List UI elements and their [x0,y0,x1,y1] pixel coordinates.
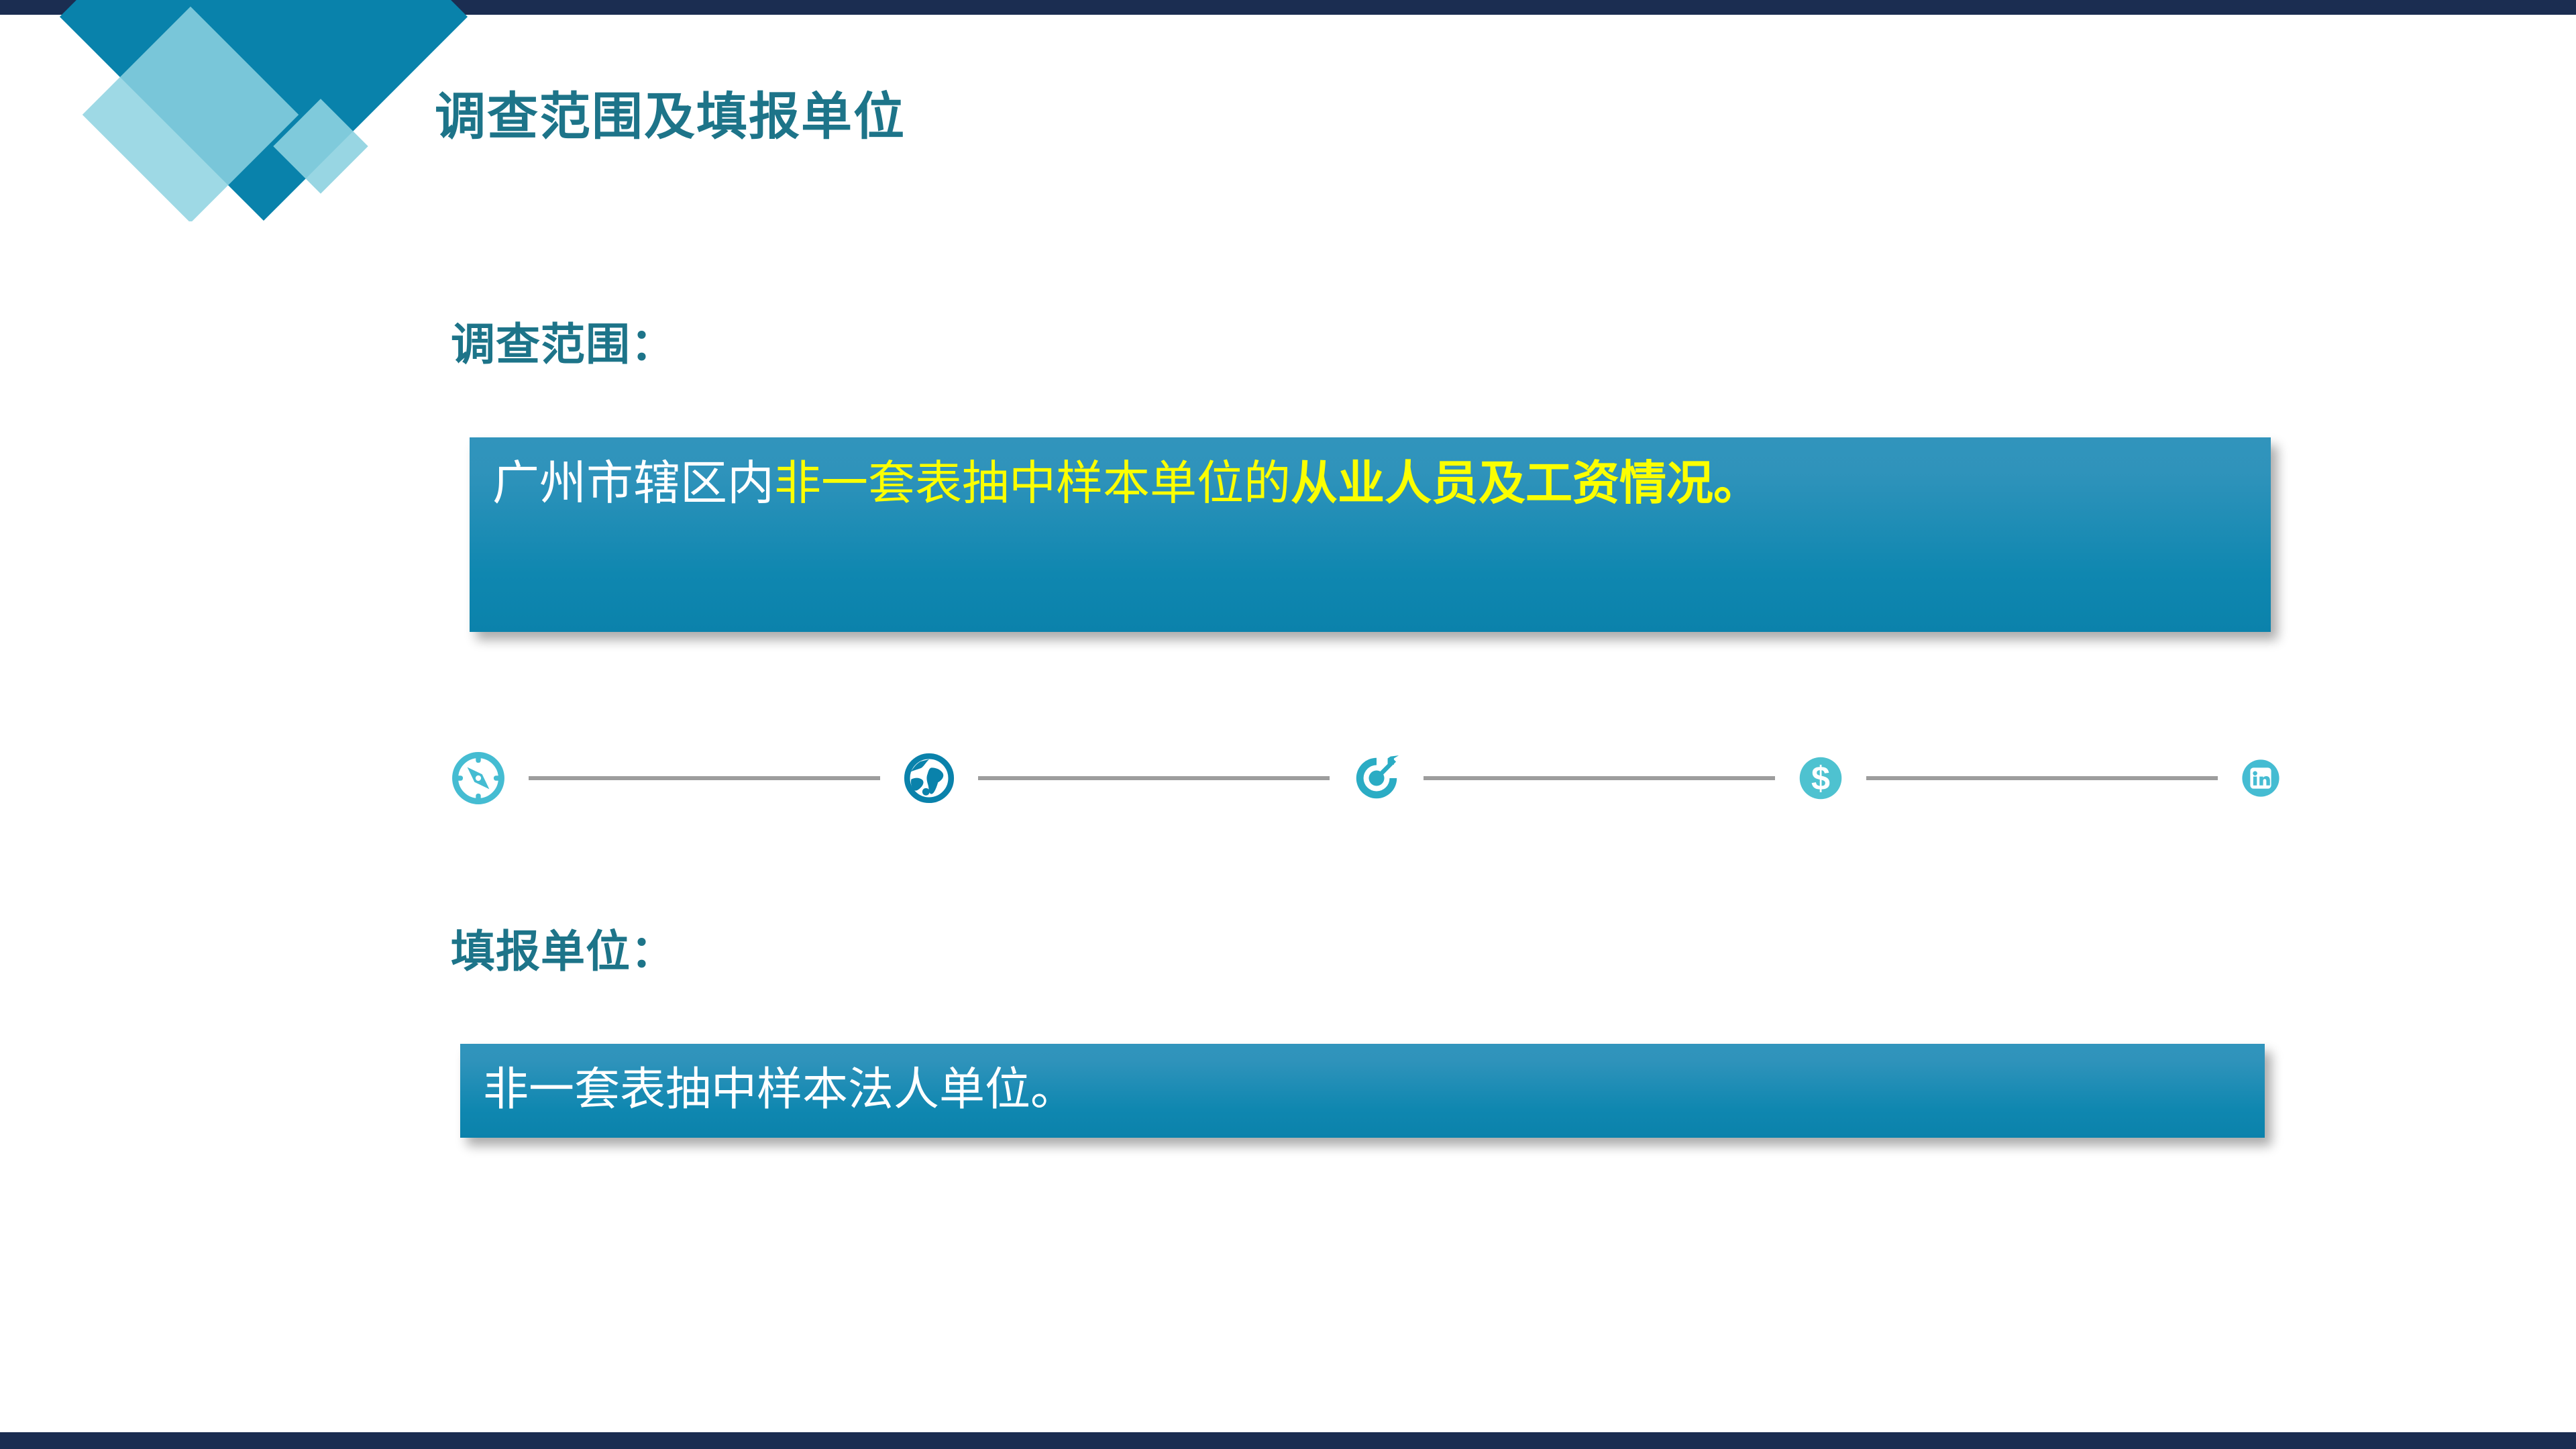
diamond-small-icon [273,99,368,193]
scope-text-middle: 非一套表抽中样本单位的 [774,457,1291,509]
top-accent-bar [0,0,2576,15]
filer-text: 非一套表抽中样本法人单位。 [483,1064,1076,1115]
filer-heading: 填报单位： [451,916,676,980]
bottom-accent-bar [0,1432,2576,1449]
globe-icon [903,752,955,804]
chain-connector-line [1424,776,1775,780]
svg-text:$: $ [1811,759,1830,798]
chain-connector-line [1866,776,2218,780]
scope-text-prefix: 广州市辖区内 [492,457,774,509]
filer-banner-text: 非一套表抽中样本法人单位。 [483,1055,2243,1125]
diamond-large-icon [60,0,468,221]
scope-text-emphasis: 从业人员及工资情况。 [1291,457,1760,509]
compass-icon [451,751,506,806]
target-icon [1352,754,1401,802]
icon-chain: $ [451,728,2281,828]
page-title: 调查范围及填报单位 [435,75,906,149]
chain-connector-line [529,776,880,780]
dollar-icon: $ [1798,755,1843,801]
linkedin-icon [2241,758,2281,798]
chain-connector-line [978,776,1330,780]
scope-banner: 广州市辖区内非一套表抽中样本单位的从业人员及工资情况。 [470,437,2271,632]
diamond-medium-icon [83,7,299,221]
filer-banner: 非一套表抽中样本法人单位。 [460,1044,2265,1138]
scope-heading: 调查范围： [451,309,676,373]
scope-banner-text: 广州市辖区内非一套表抽中样本单位的从业人员及工资情况。 [492,453,2249,513]
